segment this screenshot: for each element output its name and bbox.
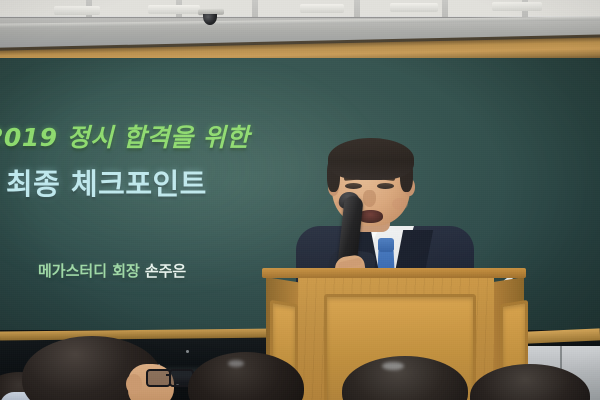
- podium-top-edge: [262, 268, 526, 278]
- tie-knot: [378, 238, 394, 252]
- speaker-hair: [328, 138, 414, 180]
- audience-hair-highlight: [382, 362, 404, 370]
- speaker-eye-left: [345, 183, 362, 189]
- speaker-eye-right: [377, 183, 394, 189]
- speaker-cheek-right: [392, 198, 408, 210]
- slide-headline-line2: 최종 체크포인트: [6, 161, 330, 203]
- slide-subtitle-name: 손주은: [145, 262, 186, 280]
- audience-hair-highlight: [228, 360, 244, 367]
- speaker-nose: [363, 190, 376, 207]
- audience-ear: [126, 374, 142, 394]
- photo-scene: 2019 정시 합격을 위한 최종 체크포인트 메가스터디 회장손주은: [0, 0, 600, 400]
- slide-headline-line1: 2019 정시 합격을 위한: [0, 118, 330, 154]
- glasses-icon: [146, 369, 190, 384]
- slide-subtitle-org: 메가스터디 회장: [38, 262, 140, 280]
- slide-subtitle: 메가스터디 회장손주은: [38, 260, 186, 281]
- projected-slide: 2019 정시 합격을 위한 최종 체크포인트 메가스터디 회장손주은: [0, 118, 330, 203]
